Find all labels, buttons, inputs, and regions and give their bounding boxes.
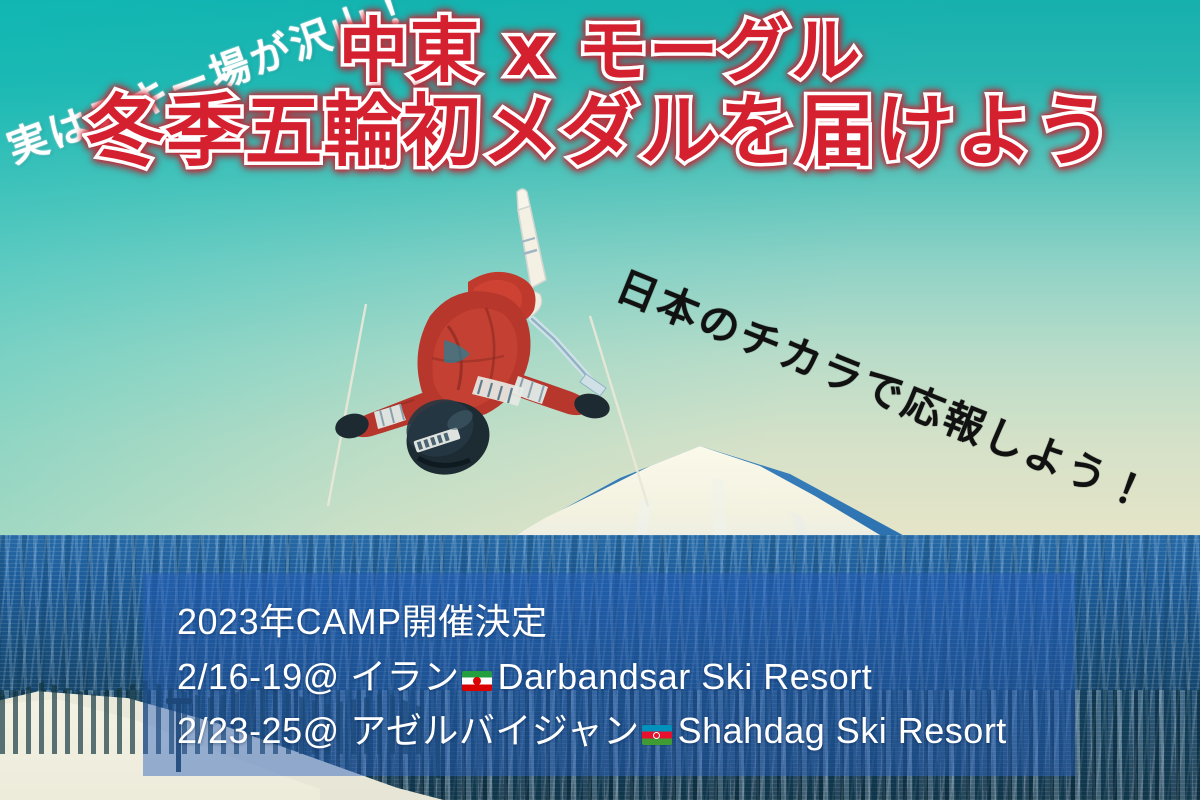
azerbaijan-resort-name: Shahdag Ski Resort [678,710,1007,751]
info-line-announcement: 2023年CAMP開催決定 [177,595,1075,650]
info-line-azerbaijan: 2/23-25@ アゼルバイジャンShahdag Ski Resort [177,704,1075,759]
azerbaijan-date-location: 2/23-25@ アゼルバイジャン [177,710,640,751]
aerial-mogul-skier-photo [318,176,688,506]
camp-info-panel: 2023年CAMP開催決定 2/16-19@ イランDarbandsar Ski… [143,573,1075,776]
poster-canvas: 実はスキー場が沢山！ 中東 x モーグル 冬季五輪初メダルを届けよう 日本のチカ… [0,0,1200,800]
announcement-text: 2023年CAMP開催決定 [177,601,548,642]
iran-flag-icon [462,671,492,691]
info-line-iran: 2/16-19@ イランDarbandsar Ski Resort [177,650,1075,705]
ski [517,189,546,288]
iran-resort-name: Darbandsar Ski Resort [498,656,873,697]
iran-date-location: 2/16-19@ イラン [177,656,460,697]
azerbaijan-flag-icon [642,725,672,745]
skier-figure [318,176,688,506]
